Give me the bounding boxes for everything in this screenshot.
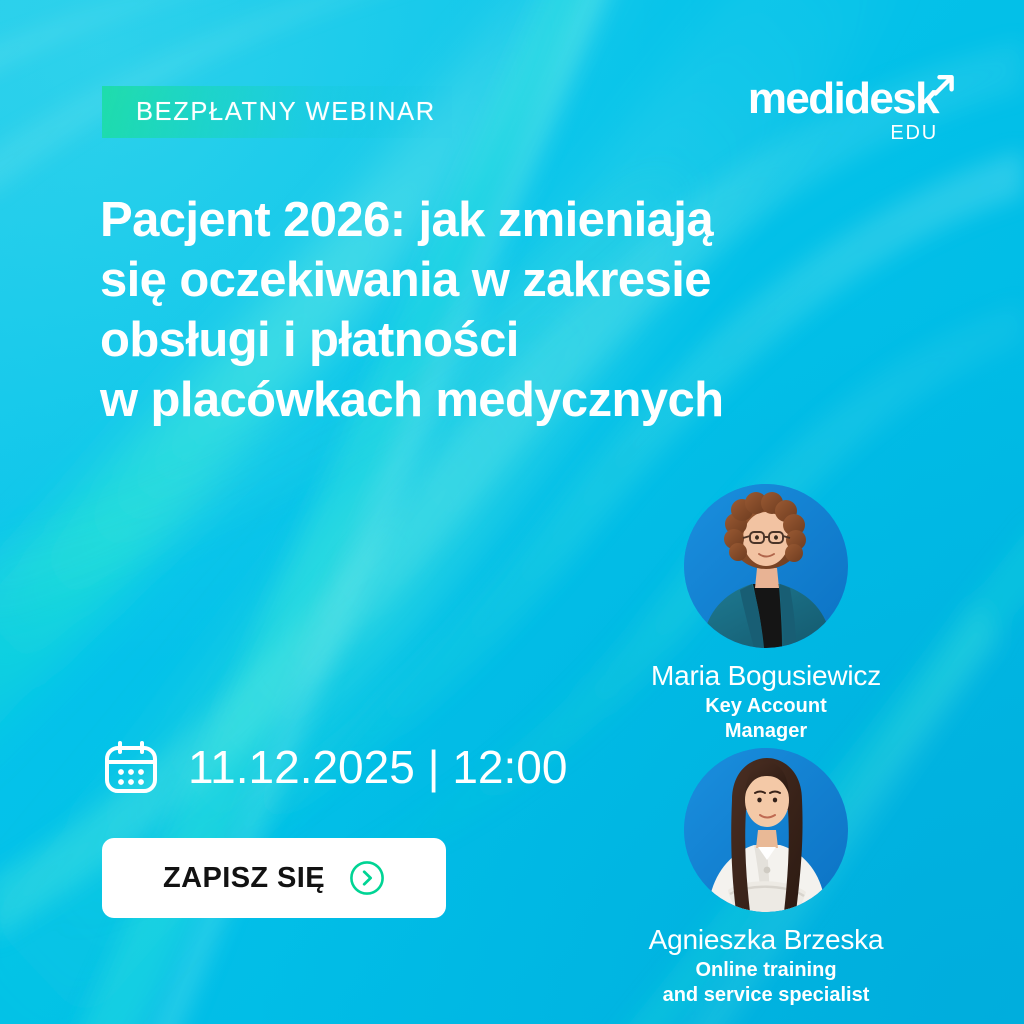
speaker-name: Agnieszka Brzeska — [601, 924, 931, 956]
speaker-role-line-1: Online training — [601, 958, 931, 983]
badge-label: BEZPŁATNY WEBINAR — [136, 98, 436, 127]
speaker-card-2: Agnieszka Brzeska Online training and se… — [601, 748, 931, 1008]
register-button-label: ZAPISZ SIĘ — [163, 862, 325, 895]
speaker-role-line-2: and service specialist — [601, 983, 931, 1008]
headline-line-3: obsługi i płatności — [100, 310, 840, 370]
event-datetime-label: 11.12.2025 | 12:00 — [188, 740, 567, 794]
speaker-card-1: Maria Bogusiewicz Key Account Manager — [601, 484, 931, 744]
page-title: Pacjent 2026: jak zmieniają się oczekiwa… — [100, 190, 840, 430]
chevron-right-circle-icon — [349, 860, 385, 896]
free-webinar-badge: BEZPŁATNY WEBINAR — [102, 86, 452, 138]
event-datetime: 11.12.2025 | 12:00 — [102, 738, 567, 796]
arrow-up-right-icon — [930, 72, 956, 98]
headline-line-4: w placówkach medycznych — [100, 370, 840, 430]
speaker-role: Online training and service specialist — [601, 958, 931, 1008]
headline-line-2: się oczekiwania w zakresie — [100, 250, 840, 310]
speaker-name: Maria Bogusiewicz — [601, 660, 931, 692]
speaker-role-line-1: Key Account — [601, 694, 931, 719]
logo-wordmark: medidesk — [748, 76, 938, 122]
speaker-role: Key Account Manager — [601, 694, 931, 744]
avatar — [684, 484, 848, 648]
avatar — [684, 748, 848, 912]
logo-sub: EDU — [890, 122, 938, 145]
headline-line-1: Pacjent 2026: jak zmieniają — [100, 190, 840, 250]
brand-logo[interactable]: medidesk EDU — [744, 76, 954, 142]
calendar-icon — [102, 738, 160, 796]
speaker-role-line-2: Manager — [601, 719, 931, 744]
register-button[interactable]: ZAPISZ SIĘ — [102, 838, 446, 918]
